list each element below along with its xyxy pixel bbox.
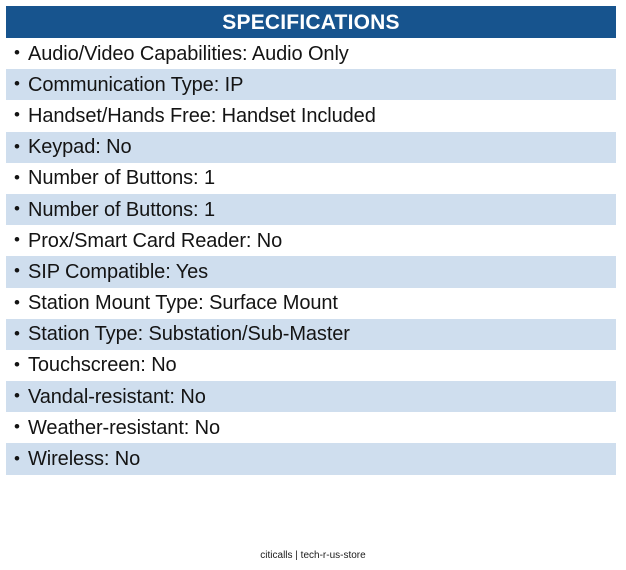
spec-row: •Wireless: No [6,443,616,474]
bullet-icon: • [6,325,28,344]
specifications-list: •Audio/Video Capabilities: Audio Only•Co… [6,38,616,475]
spec-row-text: Vandal-resistant: No [28,387,206,407]
bullet-icon: • [6,138,28,157]
specifications-header-bar: SPECIFICATIONS [6,6,616,38]
spec-row-text: Wireless: No [28,449,140,469]
spec-row: •Number of Buttons: 1 [6,163,616,194]
page-title: SPECIFICATIONS [222,12,399,33]
spec-row-text: Audio/Video Capabilities: Audio Only [28,44,349,64]
bullet-icon: • [6,200,28,219]
bullet-icon: • [6,387,28,406]
bullet-icon: • [6,169,28,188]
bullet-icon: • [6,106,28,125]
footer-credit: citicalls | tech-r-us-store [260,550,365,561]
spec-row-text: SIP Compatible: Yes [28,262,208,282]
bullet-icon: • [6,418,28,437]
spec-row: •Keypad: No [6,132,616,163]
footer: citicalls | tech-r-us-store [0,545,626,563]
spec-row: •Handset/Hands Free: Handset Included [6,100,616,131]
spec-row: •Weather-resistant: No [6,412,616,443]
spec-row: •Number of Buttons: 1 [6,194,616,225]
spec-row-text: Number of Buttons: 1 [28,200,215,220]
spec-row: •Communication Type: IP [6,69,616,100]
specifications-sheet: SPECIFICATIONS •Audio/Video Capabilities… [0,0,626,570]
bullet-icon: • [6,450,28,469]
spec-row: •Prox/Smart Card Reader: No [6,225,616,256]
spec-row: •Audio/Video Capabilities: Audio Only [6,38,616,69]
spec-row-text: Touchscreen: No [28,355,177,375]
spec-row-text: Station Mount Type: Surface Mount [28,293,338,313]
bullet-icon: • [6,75,28,94]
spec-row-text: Keypad: No [28,137,132,157]
bullet-icon: • [6,262,28,281]
spec-row-text: Prox/Smart Card Reader: No [28,231,282,251]
spec-row: •Touchscreen: No [6,350,616,381]
spec-row: •Vandal-resistant: No [6,381,616,412]
spec-row: •Station Mount Type: Surface Mount [6,288,616,319]
spec-row-text: Number of Buttons: 1 [28,168,215,188]
bullet-icon: • [6,231,28,250]
spec-row-text: Handset/Hands Free: Handset Included [28,106,376,126]
bullet-icon: • [6,294,28,313]
bullet-icon: • [6,356,28,375]
spec-row: •SIP Compatible: Yes [6,256,616,287]
spec-row: •Station Type: Substation/Sub-Master [6,319,616,350]
spec-row-text: Station Type: Substation/Sub-Master [28,324,350,344]
spec-row-text: Communication Type: IP [28,75,243,95]
bullet-icon: • [6,44,28,63]
spec-row-text: Weather-resistant: No [28,418,220,438]
